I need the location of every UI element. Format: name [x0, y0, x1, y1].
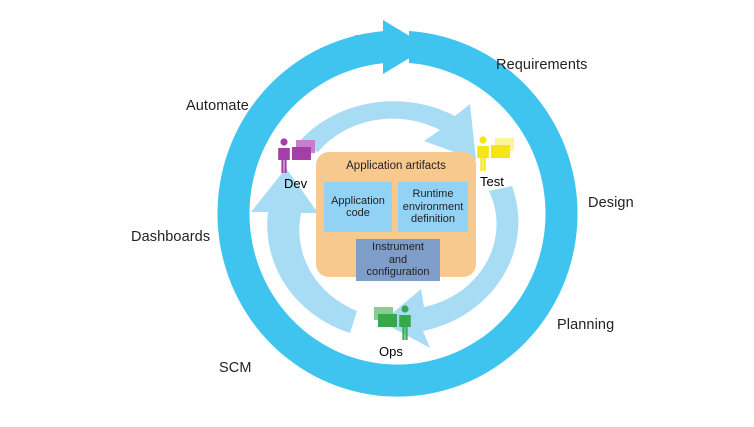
role-label-dev: Dev	[284, 176, 307, 191]
artifact-line: configuration	[367, 266, 430, 279]
artifacts-panel-title: Application artifacts	[316, 160, 476, 172]
artifact-line: code	[331, 207, 385, 220]
artifact-line: definition	[403, 213, 464, 226]
outer-label-dashboards: Dashboards	[131, 229, 210, 245]
artifact-line: environment	[403, 201, 464, 214]
role-label-test: Test	[480, 174, 504, 189]
role-icon-dev	[275, 137, 321, 175]
artifact-line: Instrument	[367, 241, 430, 254]
artifact-box-runtime-environment-definition: Runtime environment definition	[398, 182, 468, 232]
role-icon-test	[474, 135, 520, 173]
artifact-line: Runtime	[403, 188, 464, 201]
artifact-box-row: Application code Runtime environment def…	[324, 182, 468, 232]
artifact-box-application-code: Application code	[324, 182, 392, 232]
outer-label-scm: SCM	[219, 360, 252, 376]
application-artifacts-panel: Application artifacts Application code R…	[316, 152, 476, 277]
artifact-line: Application	[331, 195, 385, 208]
person-with-screens-icon	[275, 137, 321, 175]
devops-cycle-diagram: Requirements Design Planning SCM Dashboa…	[0, 0, 754, 427]
outer-label-requirements: Requirements	[496, 57, 587, 73]
role-icon-ops	[368, 304, 414, 342]
role-label-ops: Ops	[379, 344, 403, 359]
outer-label-planning: Planning	[557, 317, 614, 333]
artifact-box-instrument-and-configuration: Instrument and configuration	[356, 239, 440, 281]
artifact-line: and	[367, 254, 430, 267]
person-with-screens-icon	[474, 135, 520, 173]
person-with-screens-icon	[368, 304, 414, 342]
outer-label-automate: Automate	[186, 98, 249, 114]
outer-label-design: Design	[588, 195, 634, 211]
